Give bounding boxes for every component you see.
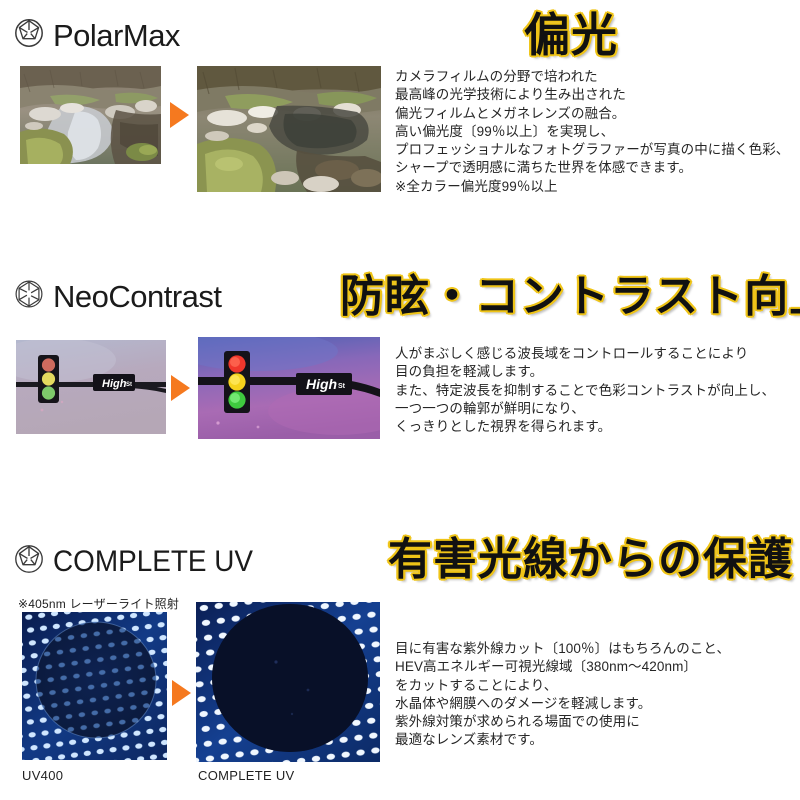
- aperture-icon: [14, 279, 44, 314]
- image-polarmax-after: [197, 66, 381, 192]
- brand-complete-uv: COMPLETE UV: [14, 544, 268, 579]
- arrow-polarmax: [170, 102, 189, 128]
- svg-text:St: St: [338, 383, 346, 390]
- svg-text:St: St: [126, 382, 132, 388]
- svg-text:High: High: [306, 376, 337, 392]
- brand-label: COMPLETE UV: [53, 547, 253, 577]
- image-uv-before: [22, 612, 167, 760]
- aperture-icon: [14, 544, 44, 579]
- body-neocontrast: 人がまぶしく感じる波長域をコントロールすることにより 目の負担を軽減します。 ま…: [395, 345, 795, 436]
- arrow-neocontrast: [171, 375, 190, 401]
- body-polarmax: カメラフィルムの分野で培われた 最高峰の光学技術により生み出された 偏光フィルム…: [395, 68, 795, 196]
- note-laser: ※405nm レーザーライト照射: [18, 595, 179, 612]
- headline-polarmax: 偏光: [524, 12, 618, 58]
- image-uv-after: [196, 602, 380, 762]
- image-neocontrast-after: High St: [198, 337, 380, 439]
- section-polarmax: PolarMax 偏光: [0, 0, 800, 265]
- section-complete-uv: COMPLETE UV 有害光線からの保護 ※405nm レーザーライト照射: [0, 520, 800, 800]
- brand-label: PolarMax: [53, 20, 180, 51]
- body-complete-uv: 目に有害な紫外線カット〔100％〕はもちろんのこと、 HEV高エネルギー可視光線…: [395, 640, 795, 750]
- headline-neocontrast: 防眩・コントラスト向上: [340, 275, 800, 319]
- brand-label: NeoContrast: [53, 281, 222, 312]
- brand-polarmax: PolarMax: [14, 18, 180, 53]
- caption-uv-after: COMPLETE UV: [198, 768, 294, 783]
- arrow-complete-uv: [172, 680, 191, 706]
- section-neocontrast: NeoContrast 防眩・コントラスト向上 High St: [0, 265, 800, 520]
- aperture-icon: [14, 18, 44, 53]
- image-polarmax-before: [20, 66, 161, 164]
- svg-text:High: High: [102, 378, 127, 390]
- brand-neocontrast: NeoContrast: [14, 279, 222, 314]
- headline-complete-uv: 有害光線からの保護: [388, 538, 793, 582]
- caption-uv-before: UV400: [22, 768, 63, 783]
- image-neocontrast-before: High St: [16, 340, 166, 434]
